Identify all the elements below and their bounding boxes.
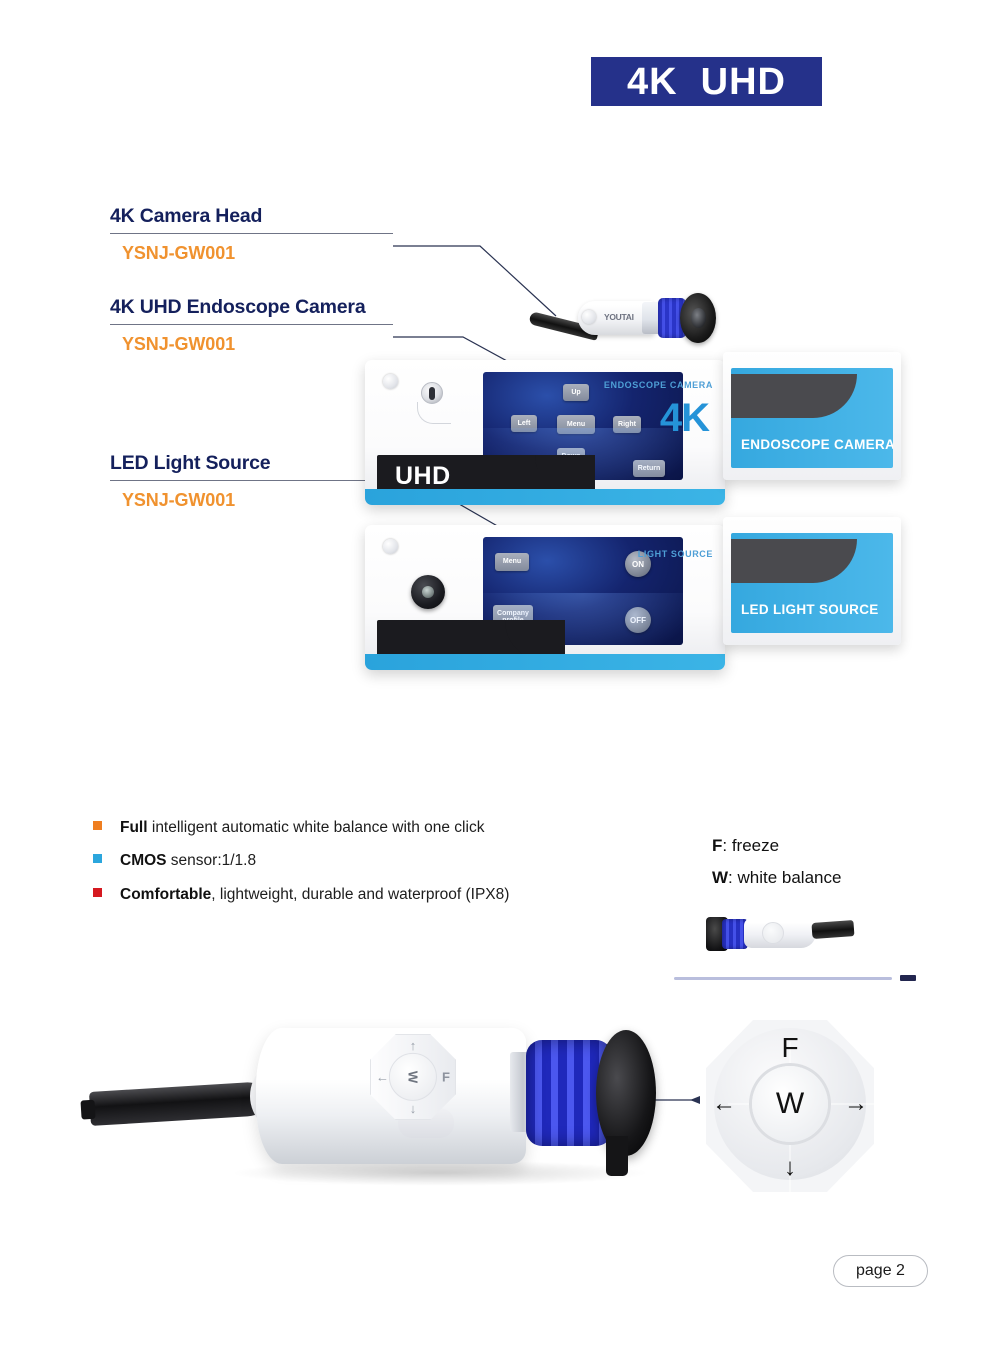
brand-logo-text: YOUTAI: [604, 312, 634, 322]
feature-item: CMOS sensor:1/1.8: [93, 851, 653, 870]
callout-model: YSNJ-GW001: [122, 243, 410, 264]
callout-rule: [110, 233, 393, 234]
camera-head-illustration: ↑ ← F ↓ W: [80, 1000, 660, 1200]
led-light-source-console: Menu Company profile ON OFF LIGHT SOURCE…: [365, 525, 725, 670]
endoscope-camera-console: Up Left Menu Right Down Return ENDOSCOPE…: [365, 360, 725, 505]
feature-bold: CMOS: [120, 852, 167, 869]
screen-button-right[interactable]: Right: [613, 416, 641, 433]
power-knob[interactable]: [411, 575, 445, 609]
console-4k-label: 4K: [660, 396, 709, 441]
console-front-face: Menu Company profile ON OFF LIGHT SOURCE: [365, 525, 725, 670]
side-panel-label: LED LIGHT SOURCE: [741, 602, 879, 617]
lens-adapter-tab: [606, 1136, 628, 1176]
screen-button-menu[interactable]: Menu: [557, 415, 595, 434]
camera-head-on-console: YOUTAI: [530, 285, 680, 355]
screen-button-off[interactable]: OFF: [625, 607, 651, 633]
legend-white-balance: W: white balance: [712, 868, 841, 888]
legend-key-f: F: [712, 836, 722, 855]
feature-bold: Comfortable: [120, 886, 211, 903]
callout-camera-head: 4K Camera Head YSNJ-GW001: [110, 205, 410, 264]
diagram-right-arrow-icon: →: [844, 1090, 868, 1118]
side-panel-swoosh: [731, 374, 857, 418]
diagram-center-button[interactable]: W: [752, 1066, 828, 1142]
cable-strain-relief: [89, 1081, 271, 1126]
thumb-button-pad: [762, 922, 784, 944]
legend-desc-white-balance: : white balance: [728, 868, 841, 887]
console-front-face: Up Left Menu Right Down Return ENDOSCOPE…: [365, 360, 725, 505]
light-console-side-panel: LED LIGHT SOURCE: [723, 517, 901, 645]
console-cyan-strip: [365, 654, 725, 670]
pad-white-balance-label: W: [406, 1071, 421, 1083]
camera-console-side-panel: ENDOSCOPE CAMERA: [723, 352, 901, 480]
bullet-marker-red: [93, 888, 102, 897]
pad-freeze-label: F: [442, 1070, 450, 1085]
side-panel-swoosh: [731, 539, 857, 583]
brochure-page: 4K UHD 4K Camera Head YSNJ-GW001 4K UHD …: [0, 0, 1000, 1352]
diagram-left-arrow-icon: ←: [712, 1090, 736, 1118]
diagram-freeze-label: F: [700, 1032, 880, 1064]
feature-text: CMOS sensor:1/1.8: [120, 851, 256, 870]
camera-head-screw: [582, 310, 596, 324]
console-uhd-label: UHD: [395, 462, 451, 491]
feature-list: Full intelligent automatic white balance…: [93, 818, 653, 918]
diagram-white-balance-label: W: [776, 1087, 804, 1121]
feature-rest: intelligent automatic white balance with…: [148, 819, 485, 836]
screen-button-left[interactable]: Left: [511, 415, 537, 432]
pad-up-arrow-icon: ↑: [410, 1038, 417, 1053]
diagram-down-arrow-icon: ↓: [700, 1154, 880, 1182]
section-divider: [674, 977, 892, 980]
page-number-badge: page 2: [833, 1255, 928, 1287]
handpiece-button-pad[interactable]: ↑ ← F ↓ W: [370, 1034, 456, 1120]
console-screw: [383, 539, 398, 554]
console-cyan-strip: [365, 489, 725, 505]
console-right-label: LIGHT SOURCE: [638, 549, 713, 559]
side-panel-label: ENDOSCOPE CAMERA: [741, 437, 893, 452]
fw-legend: F: freeze W: white balance: [712, 836, 841, 900]
feature-text: Full intelligent automatic white balance…: [120, 818, 484, 837]
side-panel-cyan-area: LED LIGHT SOURCE: [731, 533, 893, 633]
legend-freeze: F: freeze: [712, 836, 841, 856]
screen-button-menu[interactable]: Menu: [495, 553, 529, 571]
console-screw: [383, 374, 398, 389]
feature-item: Full intelligent automatic white balance…: [93, 818, 653, 837]
console-right-label: ENDOSCOPE CAMERA: [604, 380, 713, 390]
title-text: 4K UHD: [627, 63, 786, 101]
console-connector-port: [421, 382, 443, 404]
feature-item: Comfortable, lightweight, durable and wa…: [93, 885, 653, 904]
title-banner: 4K UHD: [591, 57, 822, 106]
thumb-cable: [811, 920, 854, 939]
button-pad-diagram: F ← → ↓ W: [700, 1016, 880, 1196]
screen-button-up[interactable]: Up: [563, 384, 589, 401]
feature-rest: sensor:1/1.8: [167, 852, 257, 869]
device-stack-image: YOUTAI Up Left Menu Right Down Return EN…: [330, 285, 930, 715]
feature-rest: , lightweight, durable and waterproof (I…: [211, 886, 509, 903]
pad-down-arrow-icon: ↓: [410, 1101, 417, 1116]
bullet-marker-orange: [93, 821, 102, 830]
side-panel-cyan-area: ENDOSCOPE CAMERA: [731, 368, 893, 468]
callout-heading: 4K Camera Head: [110, 205, 410, 228]
screen-button-return[interactable]: Return: [633, 460, 665, 477]
legend-key-w: W: [712, 868, 728, 887]
pad-left-arrow-icon: ←: [376, 1070, 389, 1085]
feature-bold: Full: [120, 819, 148, 836]
camera-head-thumbnail: [702, 905, 862, 961]
feature-text: Comfortable, lightweight, durable and wa…: [120, 885, 509, 904]
divider-end-dash: [900, 975, 916, 981]
legend-desc-freeze: : freeze: [722, 836, 779, 855]
camera-head-lens-adapter: [680, 293, 716, 343]
bullet-marker-cyan: [93, 854, 102, 863]
console-cord: [417, 402, 451, 424]
